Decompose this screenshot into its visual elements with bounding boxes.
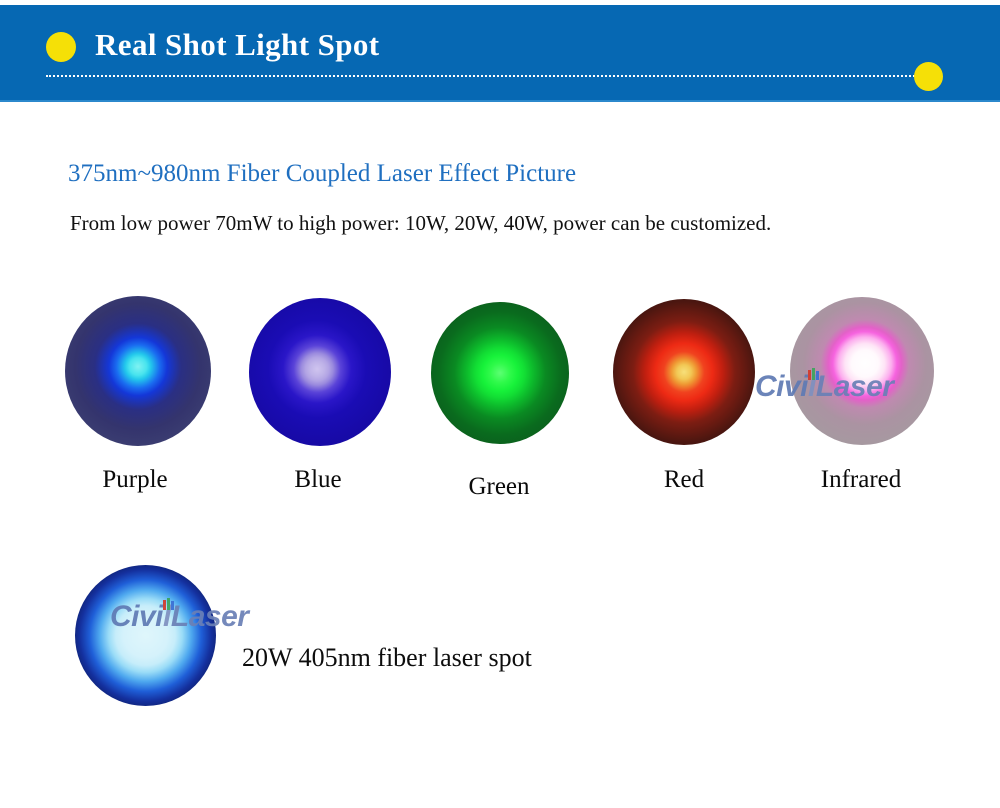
laser-spot-purple <box>65 296 211 446</box>
watermark-color-ticks-icon <box>163 598 177 610</box>
watermark-text-part3: Laser <box>816 370 894 403</box>
spot-image-blue <box>249 298 391 446</box>
civillaser-watermark-bottom: Civi l Laser <box>110 600 248 634</box>
watermark-color-ticks-icon <box>808 368 822 380</box>
spot-label-green: Green <box>425 473 573 501</box>
spot-image-green <box>431 302 569 444</box>
spot-label-infrared: Infrared <box>785 466 937 494</box>
bottom-spot-caption: 20W 405nm fiber laser spot <box>242 643 532 673</box>
laser-spot-red <box>613 299 755 445</box>
spot-label-purple: Purple <box>60 466 210 494</box>
watermark-text-part1: Civi <box>755 370 808 403</box>
spot-image-405nm-20w <box>75 565 216 706</box>
civillaser-watermark: Civi l Laser <box>755 370 893 404</box>
spot-label-blue: Blue <box>245 466 391 494</box>
header-bullet-right-icon <box>914 62 943 91</box>
section-subtitle: 375nm~980nm Fiber Coupled Laser Effect P… <box>68 160 576 188</box>
header-banner-underline <box>0 100 1000 102</box>
page-title: Real Shot Light Spot <box>95 20 379 70</box>
header-bullet-left-icon <box>46 32 76 62</box>
spot-label-red: Red <box>610 466 758 494</box>
spot-image-red <box>613 299 755 445</box>
watermark-text-part3: Laser <box>171 600 249 633</box>
watermark-text-part1: Civi <box>110 600 163 633</box>
laser-spot-green <box>431 302 569 444</box>
spot-image-purple <box>65 296 211 446</box>
laser-spot-blue <box>249 298 391 446</box>
section-description: From low power 70mW to high power: 10W, … <box>70 211 771 236</box>
header-dotted-divider <box>46 75 922 77</box>
